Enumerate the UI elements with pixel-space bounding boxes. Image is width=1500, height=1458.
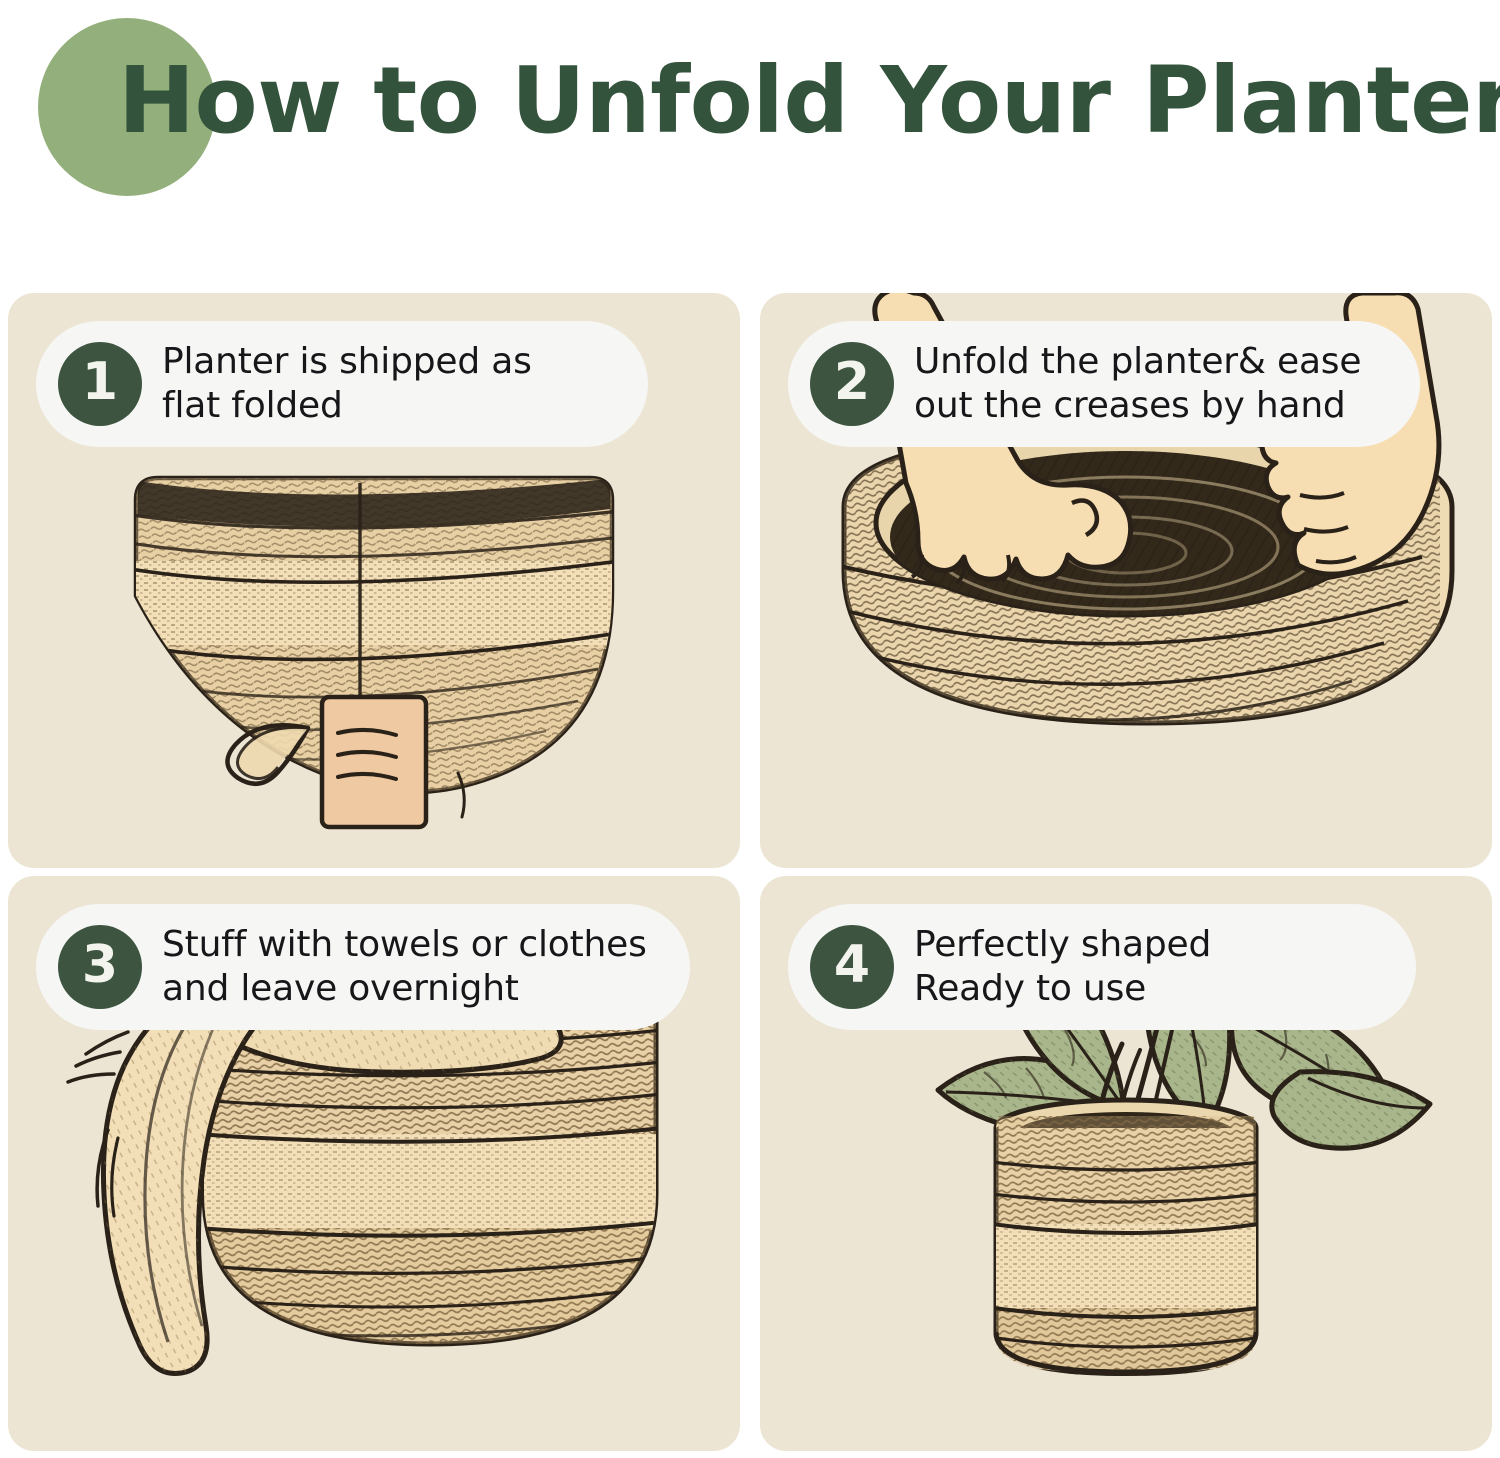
step-panel-3: 3 Stuff with towels or clothes and leave…	[8, 876, 740, 1451]
step-1-label: 1 Planter is shipped as flat folded	[36, 321, 648, 447]
infographic-root: How to Unfold Your Planter	[0, 0, 1500, 1458]
header: How to Unfold Your Planter	[0, 0, 1500, 260]
step-3-label: 3 Stuff with towels or clothes and leave…	[36, 904, 690, 1030]
step-1-badge: 1	[58, 342, 142, 426]
woven-planter-pot	[980, 1100, 1280, 1418]
step-panel-1: 1 Planter is shipped as flat folded	[8, 293, 740, 868]
step-3-badge: 3	[58, 925, 142, 1009]
step-4-badge: 4	[810, 925, 894, 1009]
step-panel-4: 4 Perfectly shaped Ready to use	[760, 876, 1492, 1451]
step-2-label: 2 Unfold the planter& ease out the creas…	[788, 321, 1420, 447]
step-2-badge: 2	[810, 342, 894, 426]
hang-tag	[322, 697, 426, 827]
step-panel-2: 2 Unfold the planter& ease out the creas…	[760, 293, 1492, 868]
steps-grid: 1 Planter is shipped as flat folded	[8, 293, 1492, 1451]
step-1-text: Planter is shipped as flat folded	[162, 340, 532, 428]
step-4-text: Perfectly shaped Ready to use	[914, 923, 1211, 1011]
step-3-text: Stuff with towels or clothes and leave o…	[162, 923, 647, 1011]
step-4-label: 4 Perfectly shaped Ready to use	[788, 904, 1416, 1030]
step-2-text: Unfold the planter& ease out the creases…	[914, 340, 1361, 428]
page-title: How to Unfold Your Planter	[118, 42, 1478, 162]
